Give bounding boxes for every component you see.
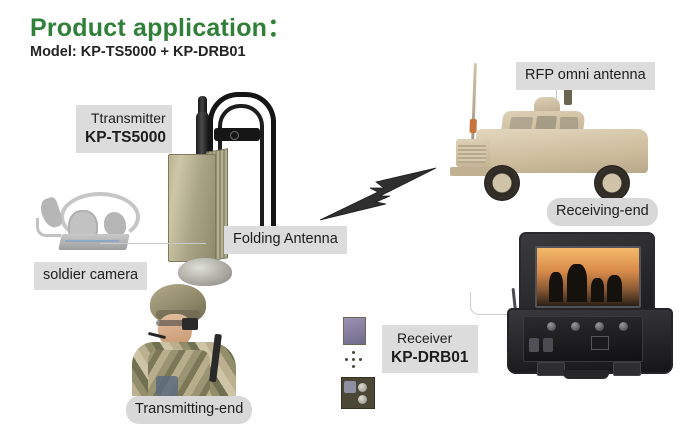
folding-antenna-strap [214, 128, 260, 141]
label-transmitter-line1: Ttransmitter [85, 109, 163, 128]
label-receiving-end: Receiving-end [547, 198, 658, 226]
case-latch-left [537, 362, 565, 376]
transmitter-keypad [345, 351, 363, 369]
screen-silhouette-2 [567, 264, 587, 302]
headset-mic-boom [36, 218, 61, 237]
case-knob-1 [547, 322, 556, 331]
label-folding-antenna: Folding Antenna [224, 226, 347, 254]
lightning-bolt-icon [318, 166, 438, 222]
transmitter-display [343, 317, 366, 345]
label-soldier-camera: soldier camera [34, 262, 147, 290]
screen-silhouette-3 [591, 278, 604, 302]
receiver-case-art [503, 232, 683, 384]
case-knob-4 [619, 322, 628, 331]
rf-link-lightning-bolt [318, 166, 438, 222]
product-application-diagram: Product application： Model: KP-TS5000 + … [0, 0, 700, 436]
vehicle-grille [458, 143, 486, 163]
model-subtitle: Model: KP-TS5000 + KP-DRB01 [30, 44, 246, 60]
case-lid [519, 232, 655, 316]
page-title: Product application： [30, 8, 292, 44]
label-receiver-line1: Receiver [391, 329, 469, 348]
vehicle-wheel-front [484, 165, 520, 201]
screen-silhouette-4 [607, 275, 622, 302]
label-rfp-omni-antenna: RFP omni antenna [516, 62, 655, 90]
case-latch-right [613, 362, 641, 376]
case-lcd-screen [535, 246, 641, 308]
soldier-camera-headset-art [32, 192, 142, 250]
label-receiver: Receiver KP-DRB01 [382, 325, 478, 373]
case-small-display [591, 336, 609, 350]
case-port-2 [543, 338, 553, 352]
label-transmitter-line2: KP-TS5000 [85, 128, 163, 149]
label-transmitter: Ttransmitter KP-TS5000 [76, 105, 172, 153]
leader-line-soldier-camera [100, 243, 206, 244]
case-port-1 [529, 338, 539, 352]
transmitter-connector-panel [341, 377, 375, 409]
vehicle-wheel-rear [594, 165, 630, 201]
soldier-pouch [156, 376, 178, 396]
case-knob-2 [571, 322, 580, 331]
label-transmitting-end: Transmitting-end [126, 396, 252, 424]
soldier-figure-art [128, 284, 240, 396]
label-receiver-line2: KP-DRB01 [391, 348, 469, 369]
headset-earpiece-right [104, 212, 126, 236]
head-mounted-camera [58, 234, 129, 250]
case-knob-3 [595, 322, 604, 331]
transmitter-device-body [168, 154, 216, 262]
screen-silhouette-1 [549, 272, 563, 302]
soldier-headset [182, 318, 198, 330]
transmitter-accessory-pouch [178, 258, 232, 286]
mrap-vehicle-art [448, 95, 676, 207]
case-handle [563, 370, 609, 379]
